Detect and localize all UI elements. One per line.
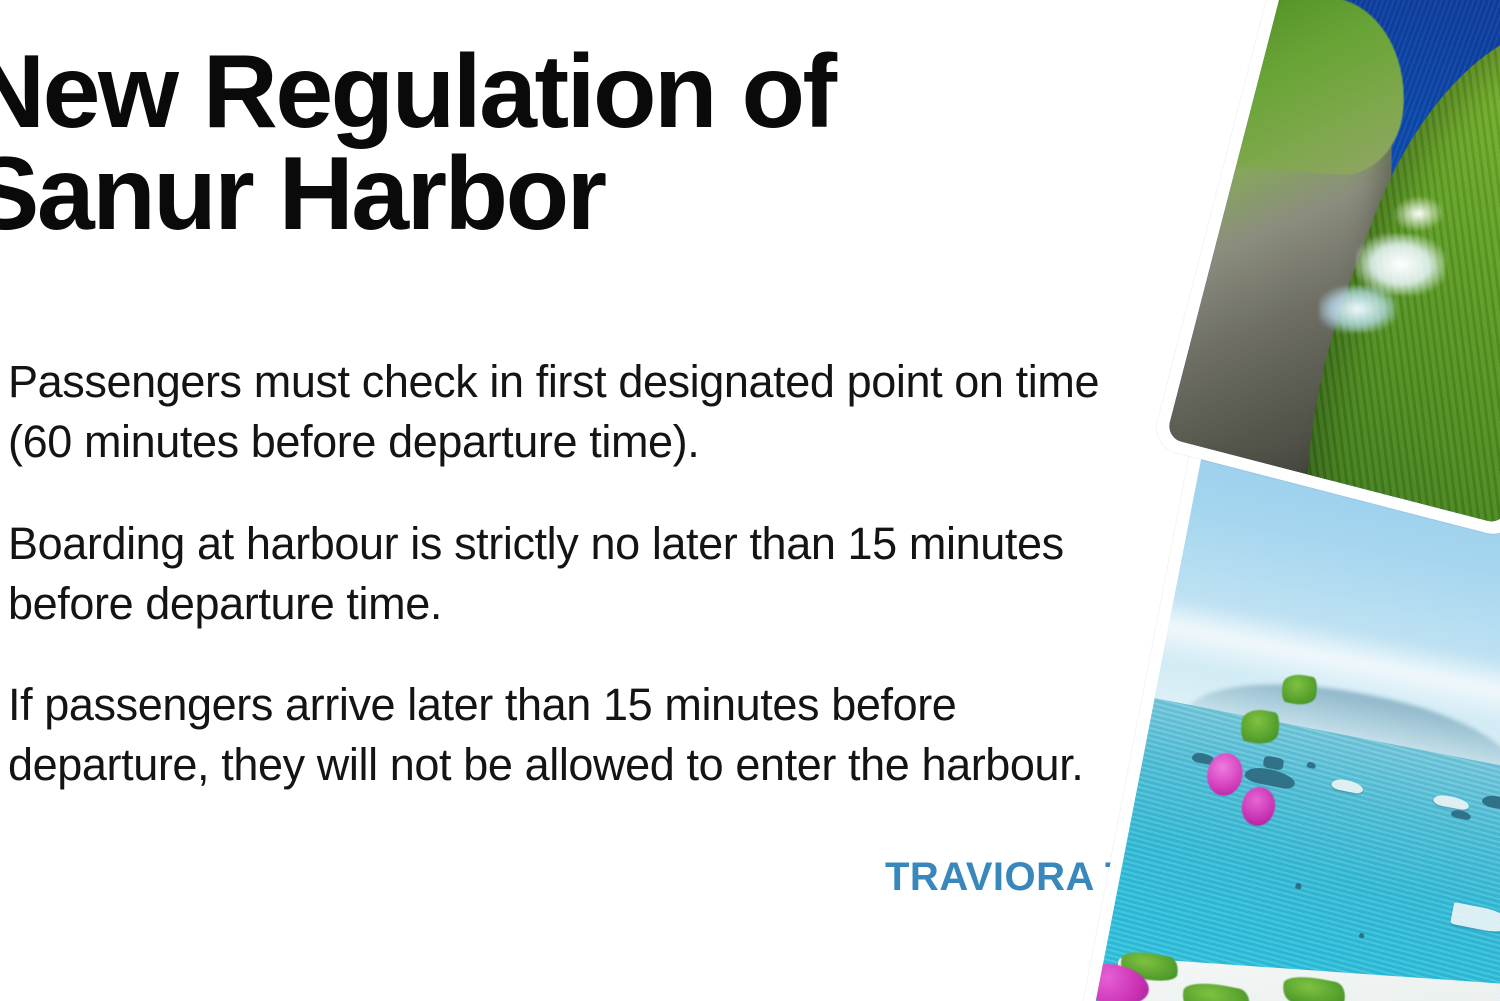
surf-foam-2: [1318, 284, 1396, 333]
regulation-list: Passengers must check in first designate…: [8, 352, 1100, 795]
sprig-flower-2: [1239, 784, 1278, 828]
cliff-ocean-photo-card: [1151, 0, 1500, 539]
sprig-leaf-1: [1279, 671, 1319, 708]
sprig-leaf-2: [1238, 706, 1282, 747]
swimmer-1: [1295, 883, 1301, 889]
regulation-item-1: Passengers must check in first designate…: [8, 352, 1100, 472]
regulation-item-3: If passengers arrive later than 15 minut…: [8, 675, 1100, 795]
text-column: New Regulation of Sanur Harbor Passenger…: [0, 0, 1120, 1001]
leaf-3: [1280, 973, 1347, 1001]
slide-canvas: New Regulation of Sanur Harbor Passenger…: [0, 0, 1500, 1001]
leaf-2: [1180, 978, 1252, 1001]
surf-foam-3: [1393, 195, 1444, 232]
cliff-ocean-photo: [1166, 0, 1500, 525]
left-headland-vegetation: [1204, 0, 1412, 179]
page-title: New Regulation of Sanur Harbor: [0, 42, 1150, 246]
regulation-item-2: Boarding at harbour is strictly no later…: [8, 514, 1100, 634]
sprig-flower-1: [1204, 750, 1246, 798]
